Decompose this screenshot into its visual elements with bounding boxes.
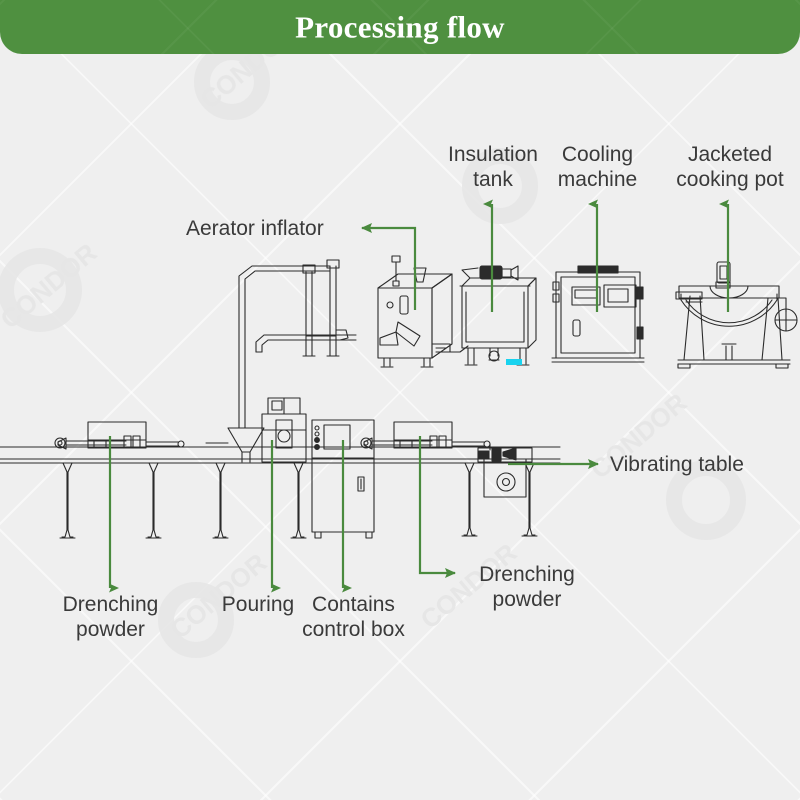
label-cooling-machine: Cooling machine (520, 142, 675, 192)
diagram-canvas: Processing flow CONDOR CONDOR CONDOR CON… (0, 0, 800, 800)
label-vibrating-table: Vibrating table (610, 452, 800, 477)
arrow-aerator-inflator (362, 228, 415, 310)
annotation-arrows (0, 0, 800, 800)
label-drenching-powder-left: Drenching powder (28, 592, 193, 642)
page-title: Processing flow (0, 12, 800, 43)
label-drenching-powder-right: Drenching powder (462, 562, 592, 612)
label-contains-control-box: Contains control box (286, 592, 421, 642)
arrow-drenching-powder-right (420, 436, 455, 573)
label-jacketed-cooking-pot: Jacketed cooking pot (655, 142, 800, 192)
label-aerator-inflator: Aerator inflator (186, 216, 356, 241)
title-banner: Processing flow (0, 0, 800, 54)
